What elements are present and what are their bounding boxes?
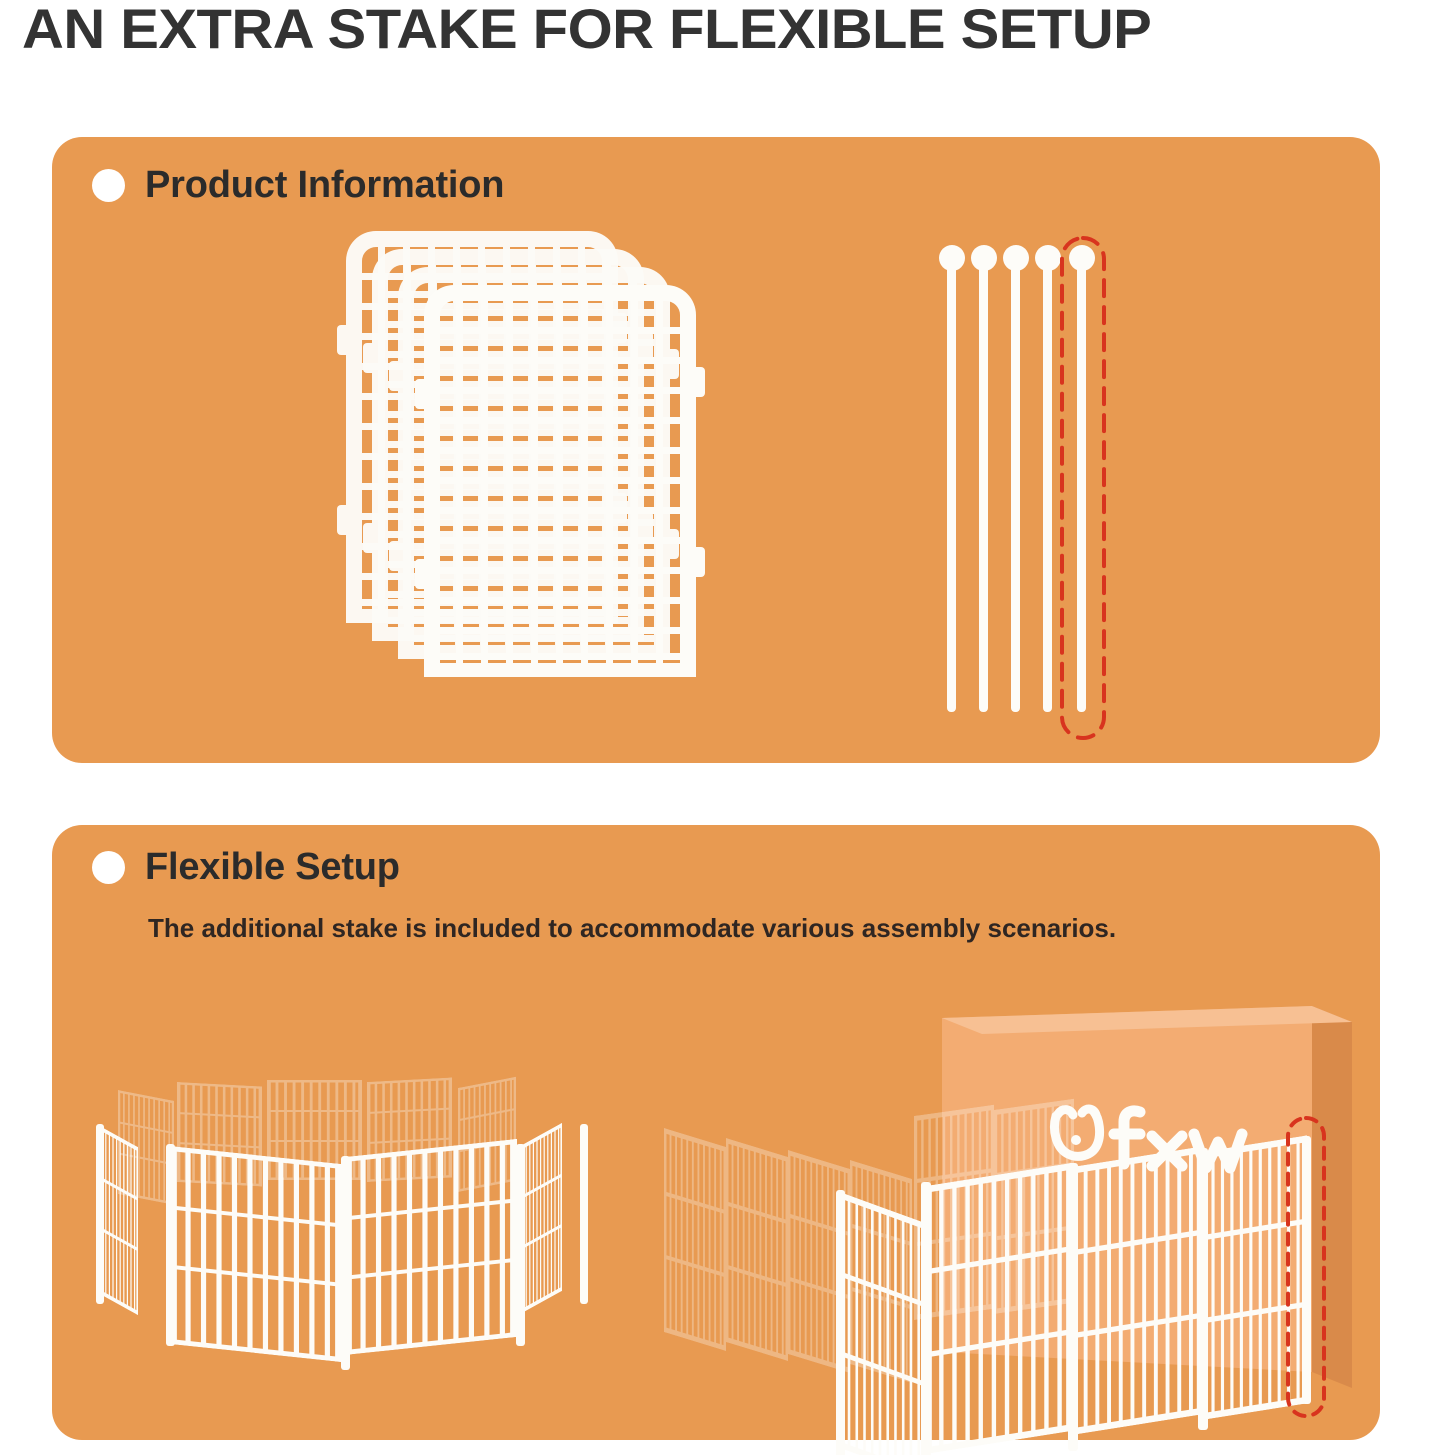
card-product-header: Product Information xyxy=(92,165,504,205)
stake-5-extra xyxy=(1069,245,1095,712)
page-headline: AN EXTRA STAKE FOR FLEXIBLE SETUP xyxy=(22,0,1432,60)
wall-setup-illustration xyxy=(652,1000,1392,1430)
card-flexible-header: Flexible Setup xyxy=(92,847,400,887)
octagon-playpen-illustration xyxy=(82,1080,622,1410)
card-flexible-title: Flexible Setup xyxy=(145,847,400,887)
stake-3 xyxy=(1003,245,1029,712)
card-product-information: Product Information xyxy=(52,137,1380,763)
stake-4 xyxy=(1035,245,1061,712)
infographic-page: AN EXTRA STAKE FOR FLEXIBLE SETUP Produc… xyxy=(0,0,1432,1455)
bullet-dot-icon xyxy=(92,851,125,884)
stake-1 xyxy=(939,245,965,712)
bullet-dot-icon xyxy=(92,169,125,202)
stake-set-illustration xyxy=(932,232,1142,762)
card-flexible-setup: Flexible Setup The additional stake is i… xyxy=(52,825,1380,1440)
panel-stack xyxy=(337,231,705,677)
stacked-fence-panels-illustration xyxy=(332,217,852,757)
card-flexible-description: The additional stake is included to acco… xyxy=(148,911,1116,945)
stake-2 xyxy=(971,245,997,712)
card-product-title: Product Information xyxy=(145,165,504,205)
stakes xyxy=(939,245,1095,712)
